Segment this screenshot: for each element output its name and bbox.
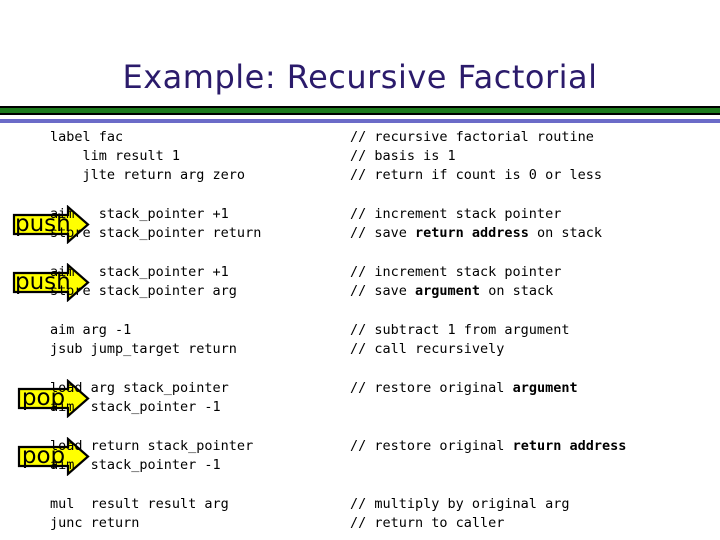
comment-text: // restore original <box>350 380 513 396</box>
comment-text: // save <box>350 283 415 299</box>
comment-text: // restore original <box>350 438 513 454</box>
code-comment: // increment stack pointer <box>350 205 561 224</box>
code-comment: // recursive factorial routine <box>350 128 594 147</box>
code-instruction: aim stack_pointer -1 <box>50 456 221 475</box>
divider-blue <box>0 119 720 123</box>
code-instruction: load arg stack_pointer <box>50 379 229 398</box>
code-block: label fac// recursive factorial routine … <box>0 128 720 185</box>
code-comment: // call recursively <box>350 340 504 359</box>
comment-emphasis: argument <box>415 283 480 299</box>
code-instruction: junc return <box>50 514 139 533</box>
page-title: Example: Recursive Factorial <box>0 58 720 96</box>
comment-text: // return if count is 0 or less <box>350 167 602 183</box>
code-line: mul result result arg// multiply by orig… <box>0 495 720 514</box>
code-comment: // restore original argument <box>350 379 578 398</box>
comment-text: // return to caller <box>350 515 504 531</box>
comment-text: // recursive factorial routine <box>350 129 594 145</box>
code-instruction: mul result result arg <box>50 495 229 514</box>
comment-text: // increment stack pointer <box>350 264 561 280</box>
code-comment: // save argument on stack <box>350 282 553 301</box>
comment-emphasis: return address <box>415 225 529 241</box>
code-line: aim stack_pointer -1 <box>0 456 720 475</box>
code-instruction: lim result 1 <box>50 147 180 166</box>
code-instruction: aim arg -1 <box>50 321 131 340</box>
code-instruction: aim stack_pointer -1 <box>50 398 221 417</box>
code-instruction: aim stack_pointer +1 <box>50 263 229 282</box>
code-instruction: aim stack_pointer +1 <box>50 205 229 224</box>
code-block: aim stack_pointer +1// increment stack p… <box>0 263 720 301</box>
code-block: mul result result arg// multiply by orig… <box>0 495 720 533</box>
code-instruction: store stack_pointer arg <box>50 282 237 301</box>
code-instruction: jlte return arg zero <box>50 166 245 185</box>
code-comment: // increment stack pointer <box>350 263 561 282</box>
code-comment: // return if count is 0 or less <box>350 166 602 185</box>
code-instruction: jsub jump_target return <box>50 340 237 359</box>
code-comment: // basis is 1 <box>350 147 456 166</box>
divider-green <box>0 106 720 115</box>
code-block: aim arg -1// subtract 1 from argumentjsu… <box>0 321 720 359</box>
code-instruction: load return stack_pointer <box>50 437 253 456</box>
code-listing: label fac// recursive factorial routine … <box>0 128 720 538</box>
comment-text: // call recursively <box>350 341 504 357</box>
comment-emphasis: return address <box>513 438 627 454</box>
comment-text: // basis is 1 <box>350 148 456 164</box>
code-line: junc return// return to caller <box>0 514 720 533</box>
code-comment: // restore original return address <box>350 437 626 456</box>
code-block: load return stack_pointer// restore orig… <box>0 437 720 475</box>
comment-emphasis: argument <box>513 380 578 396</box>
code-line: load return stack_pointer// restore orig… <box>0 437 720 456</box>
code-comment: // return to caller <box>350 514 504 533</box>
code-line: aim stack_pointer +1// increment stack p… <box>0 205 720 224</box>
code-line: aim stack_pointer +1// increment stack p… <box>0 263 720 282</box>
code-line: aim stack_pointer -1 <box>0 398 720 417</box>
code-block: load arg stack_pointer// restore origina… <box>0 379 720 417</box>
comment-text-tail: on stack <box>529 225 602 241</box>
code-line: aim arg -1// subtract 1 from argument <box>0 321 720 340</box>
code-line: store stack_pointer return// save return… <box>0 224 720 243</box>
code-block: aim stack_pointer +1// increment stack p… <box>0 205 720 243</box>
code-line: lim result 1// basis is 1 <box>0 147 720 166</box>
comment-text-tail: on stack <box>480 283 553 299</box>
code-line: jsub jump_target return// call recursive… <box>0 340 720 359</box>
code-instruction: store stack_pointer return <box>50 224 261 243</box>
comment-text: // save <box>350 225 415 241</box>
code-line: load arg stack_pointer// restore origina… <box>0 379 720 398</box>
code-line: label fac// recursive factorial routine <box>0 128 720 147</box>
comment-text: // subtract 1 from argument <box>350 322 569 338</box>
comment-text: // increment stack pointer <box>350 206 561 222</box>
code-comment: // multiply by original arg <box>350 495 569 514</box>
code-line: store stack_pointer arg// save argument … <box>0 282 720 301</box>
code-comment: // save return address on stack <box>350 224 602 243</box>
code-comment: // subtract 1 from argument <box>350 321 569 340</box>
code-line: jlte return arg zero// return if count i… <box>0 166 720 185</box>
comment-text: // multiply by original arg <box>350 496 569 512</box>
code-instruction: label fac <box>50 128 123 147</box>
